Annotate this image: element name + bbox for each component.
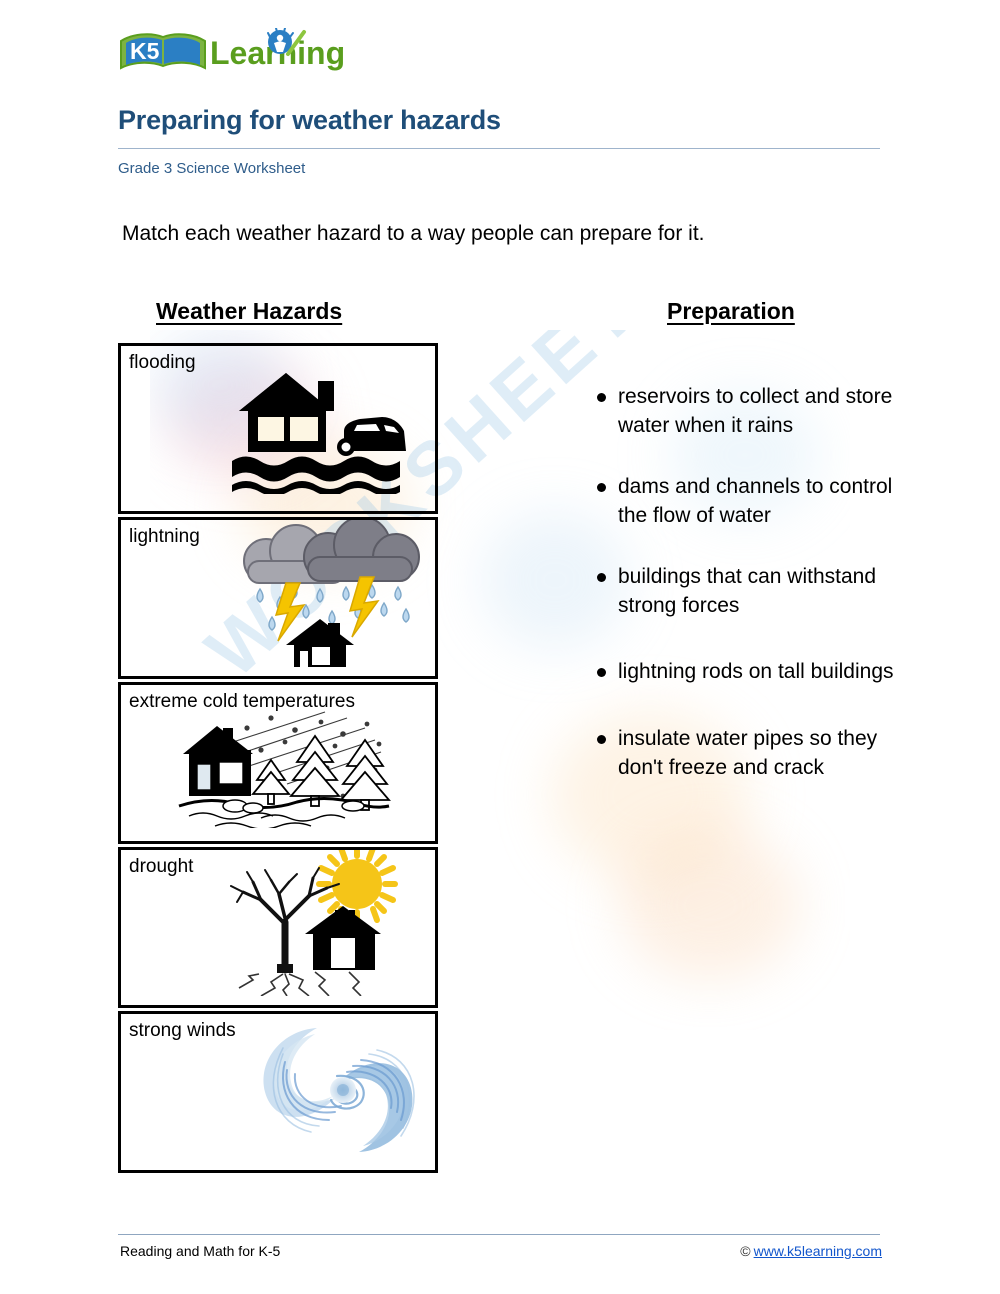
bullet-icon: [597, 735, 606, 744]
hazard-box-flooding[interactable]: flooding: [118, 343, 438, 514]
hurricane-spiral-icon: [243, 1011, 433, 1170]
preparation-heading: Preparation: [667, 298, 795, 325]
bullet-icon: [597, 573, 606, 582]
k5learning-link[interactable]: www.k5learning.com: [754, 1243, 882, 1259]
snow-scene-icon: [175, 710, 393, 833]
flooded-house-icon: [214, 359, 429, 499]
bullet-icon: [597, 668, 606, 677]
title-divider: [118, 148, 880, 149]
preparation-column: reservoirs to collect and store water wh…: [597, 383, 897, 783]
preparation-item[interactable]: reservoirs to collect and store water wh…: [597, 383, 897, 441]
dry-sun-tree-icon: [209, 848, 409, 1001]
weather-hazards-column: flooding lightning: [118, 343, 438, 1176]
bullet-icon: [597, 483, 606, 492]
preparation-item[interactable]: lightning rods on tall buildings: [597, 658, 897, 687]
hazard-label: flooding: [129, 352, 196, 374]
page-subtitle: Grade 3 Science Worksheet: [118, 160, 305, 177]
footer-divider: [118, 1234, 880, 1235]
hazard-label: strong winds: [129, 1020, 236, 1042]
hazard-box-drought[interactable]: drought: [118, 847, 438, 1008]
hazard-label: extreme cold temperatures: [129, 691, 355, 713]
hazard-box-extreme-cold[interactable]: extreme cold temperatures: [118, 682, 438, 844]
page-title: Preparing for weather hazards: [118, 105, 501, 136]
svg-text:K5: K5: [130, 38, 160, 64]
preparation-item[interactable]: insulate water pipes so they don't freez…: [597, 725, 897, 783]
hazard-box-strong-winds[interactable]: strong winds: [118, 1011, 438, 1173]
preparation-item[interactable]: dams and channels to control the flow of…: [597, 473, 897, 531]
preparation-item[interactable]: buildings that can withstand strong forc…: [597, 563, 897, 621]
preparation-text: reservoirs to collect and store water wh…: [618, 383, 897, 441]
instructions-text: Match each weather hazard to a way peopl…: [122, 222, 705, 246]
footer-tagline: Reading and Math for K-5: [120, 1243, 280, 1259]
footer-website[interactable]: ©www.k5learning.com: [740, 1243, 882, 1259]
bullet-icon: [597, 393, 606, 402]
hazard-box-lightning[interactable]: lightning: [118, 517, 438, 679]
watermark-blob: [620, 830, 800, 980]
preparation-text: lightning rods on tall buildings: [618, 658, 897, 687]
hazard-label: drought: [129, 856, 193, 878]
copyright-icon: ©: [740, 1243, 750, 1259]
hazard-label: lightning: [129, 526, 200, 548]
weather-hazards-heading: Weather Hazards: [156, 298, 342, 325]
preparation-text: buildings that can withstand strong forc…: [618, 563, 897, 621]
preparation-text: dams and channels to control the flow of…: [618, 473, 897, 531]
thunderstorm-icon: [220, 519, 425, 672]
k5-learning-logo: K5 Learning: [118, 28, 348, 80]
preparation-text: insulate water pipes so they don't freez…: [618, 725, 897, 783]
